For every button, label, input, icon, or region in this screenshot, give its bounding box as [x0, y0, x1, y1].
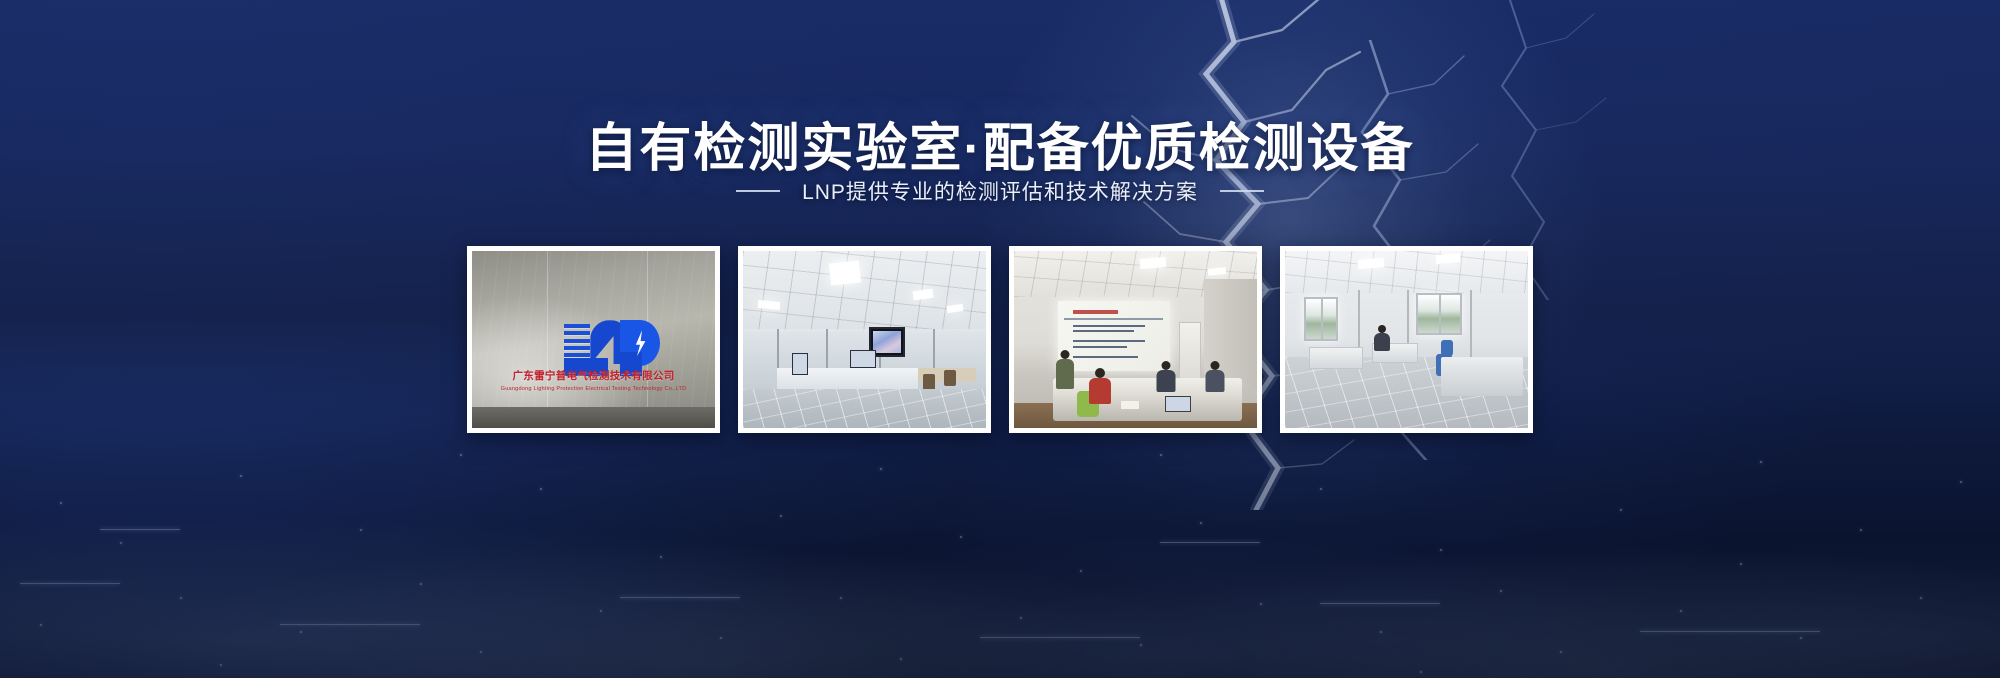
gallery-photo-company-sign[interactable]: 广东雷宁普电气检测技术有限公司 Guangdong Lighting Prote… — [467, 246, 720, 433]
dash-right-icon — [1220, 190, 1264, 192]
person-body — [1156, 370, 1175, 392]
person-body — [1374, 333, 1390, 351]
person-body — [1089, 378, 1111, 404]
slide-text-line — [1073, 340, 1145, 342]
window-right — [1416, 293, 1462, 335]
slide-text-line — [1073, 330, 1133, 332]
banner-subtitle: LNP提供专业的检测评估和技术解决方案 — [0, 176, 2000, 206]
slide-text-line — [1073, 346, 1127, 348]
window-left — [1304, 297, 1338, 341]
reception-counter — [1441, 357, 1524, 396]
person-presenter — [1053, 350, 1077, 428]
sign-floor — [472, 407, 715, 428]
person-head — [1210, 361, 1219, 370]
banner-content: 自有检测实验室·配备优质检测设备 LNP提供专业的检测评估和技术解决方案 — [0, 0, 2000, 678]
person-head — [1161, 361, 1170, 370]
gallery-photo-lab-corridor[interactable] — [738, 246, 991, 433]
person-body — [1056, 359, 1074, 389]
office-desk-left — [1309, 347, 1363, 369]
bench-monitor — [850, 350, 876, 368]
meeting-room-scene — [1014, 251, 1257, 428]
office-scene — [1285, 251, 1528, 428]
hero-banner: 自有检测实验室·配备优质检测设备 LNP提供专业的检测评估和技术解决方案 — [0, 0, 2000, 678]
wall-seam — [547, 251, 548, 428]
dash-left-icon — [736, 190, 780, 192]
gallery-photo-training-meeting[interactable] — [1009, 246, 1262, 433]
person-seated-front — [1087, 368, 1113, 428]
lab-scene — [743, 251, 986, 428]
company-name-cn: 广东雷宁普电气检测技术有限公司 — [487, 368, 701, 383]
chair-blue — [1441, 340, 1453, 356]
slide-text-line — [1073, 325, 1145, 327]
office-ceiling — [1285, 251, 1528, 293]
laptop — [1165, 396, 1191, 412]
ceiling-grid — [743, 251, 986, 332]
person-at-desk — [1372, 325, 1392, 367]
person-head — [1060, 350, 1069, 359]
ceiling-light — [1358, 258, 1385, 269]
banner-subtitle-text: LNP提供专业的检测评估和技术解决方案 — [802, 176, 1198, 206]
slide-title — [1073, 310, 1118, 314]
company-name-en: Guangdong Lighting Protection Electrical… — [482, 386, 706, 392]
person-head — [1095, 368, 1105, 378]
lab-floor — [743, 389, 986, 428]
ceiling-grid — [1285, 251, 1528, 293]
bench-monitor — [792, 353, 808, 375]
person-head — [1378, 325, 1386, 333]
ceiling-light — [829, 261, 861, 286]
page-title: 自有检测实验室·配备优质检测设备 — [0, 106, 2000, 181]
monitor-screen — [873, 331, 901, 353]
cabinet — [1179, 322, 1201, 386]
notebook-paper — [1121, 401, 1139, 409]
photo-gallery: 广东雷宁普电气检测技术有限公司 Guangdong Lighting Prote… — [0, 246, 2000, 433]
slide-text-line — [1073, 356, 1138, 358]
lab-ceiling — [743, 251, 986, 332]
person-body — [1205, 370, 1224, 392]
gallery-photo-office[interactable] — [1280, 246, 1533, 433]
slide-divider — [1064, 318, 1162, 320]
person-seated-right — [1204, 361, 1226, 414]
